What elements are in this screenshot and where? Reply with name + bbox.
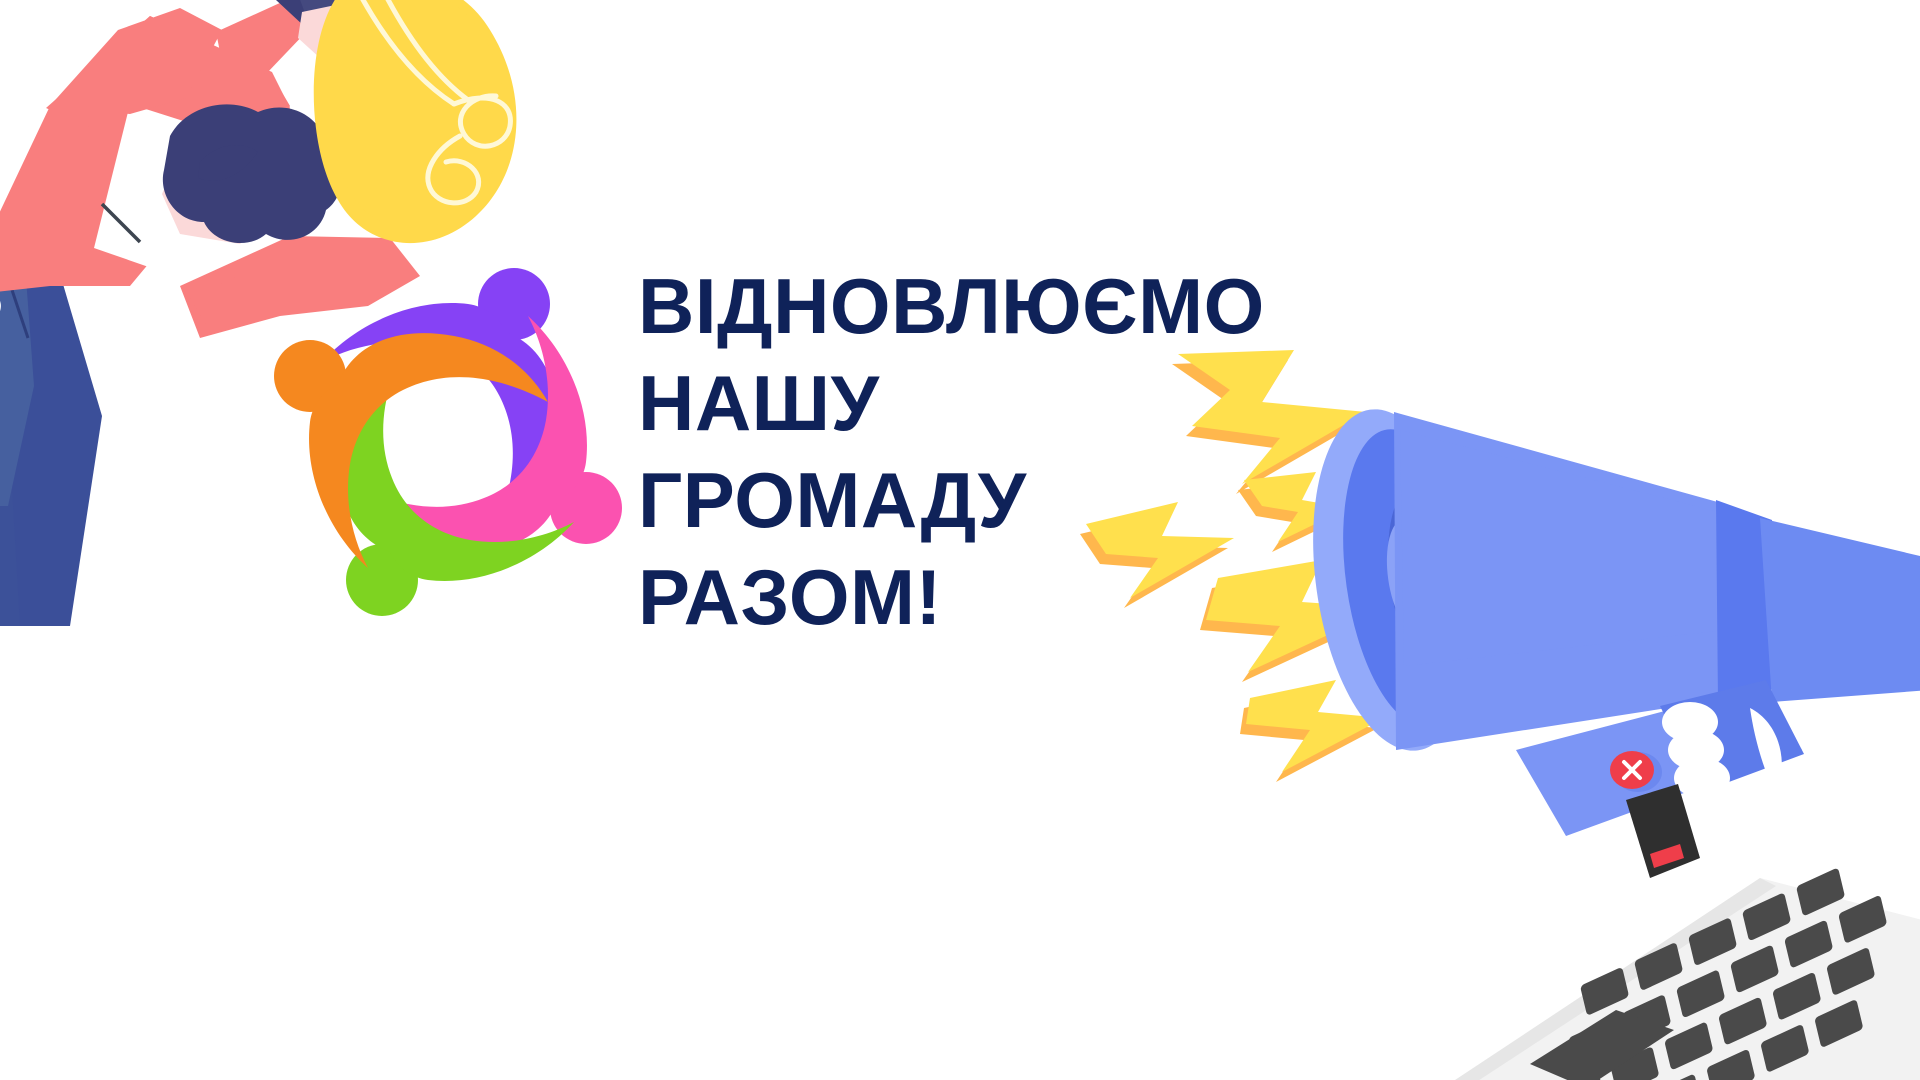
figure-head (478, 268, 550, 340)
logo-figure-green (339, 342, 574, 616)
person-cap (276, 0, 378, 26)
figure-body (309, 333, 548, 568)
headline-line-3: ГРОМАДУ (638, 452, 1338, 549)
person-hand (298, 2, 394, 66)
headline-line-1: ВІДНОВЛЮЄМО (638, 258, 1338, 355)
person-holding-lightbulb-illustration (0, 0, 550, 626)
community-pinwheel-logo (248, 242, 648, 642)
person-shirt (0, 2, 420, 338)
pants-button (0, 263, 7, 289)
handle-grip-pads (1662, 702, 1736, 826)
logo-figure-pink (348, 316, 622, 551)
headline-line-4: РАЗОМ! (638, 549, 1338, 646)
poster-canvas: ВІДНОВЛЮЄМО НАШУ ГРОМАДУ РАЗОМ! (0, 0, 1920, 1080)
person-pants (0, 263, 102, 626)
logo-figure-orange (274, 333, 548, 568)
megaphone-screen (1626, 784, 1700, 878)
person-head (162, 104, 341, 244)
laptop-keys (1514, 853, 1907, 1080)
sleeve-seam (102, 204, 140, 242)
megaphone-cone (1293, 399, 1778, 761)
close-icon[interactable] (1610, 751, 1662, 792)
lightning-bolt-icon (1240, 680, 1384, 782)
figure-body (348, 316, 587, 551)
person-hair (163, 104, 341, 243)
megaphone-handle (1516, 518, 1920, 878)
figure-head (274, 340, 346, 412)
lightbulb-icon (314, 0, 517, 243)
figure-head (346, 544, 418, 616)
headline: ВІДНОВЛЮЄМО НАШУ ГРОМАДУ РАЗОМ! (638, 258, 1338, 646)
bulb-filament (362, 0, 510, 203)
figure-head (550, 472, 622, 544)
logo-figure-purple (322, 268, 557, 542)
figure-body (339, 342, 574, 581)
pants-button (0, 295, 1, 317)
person-face (162, 160, 272, 244)
figure-body (322, 303, 557, 542)
laptop-illustration (1440, 853, 1920, 1080)
headline-line-2: НАШУ (638, 355, 1338, 452)
